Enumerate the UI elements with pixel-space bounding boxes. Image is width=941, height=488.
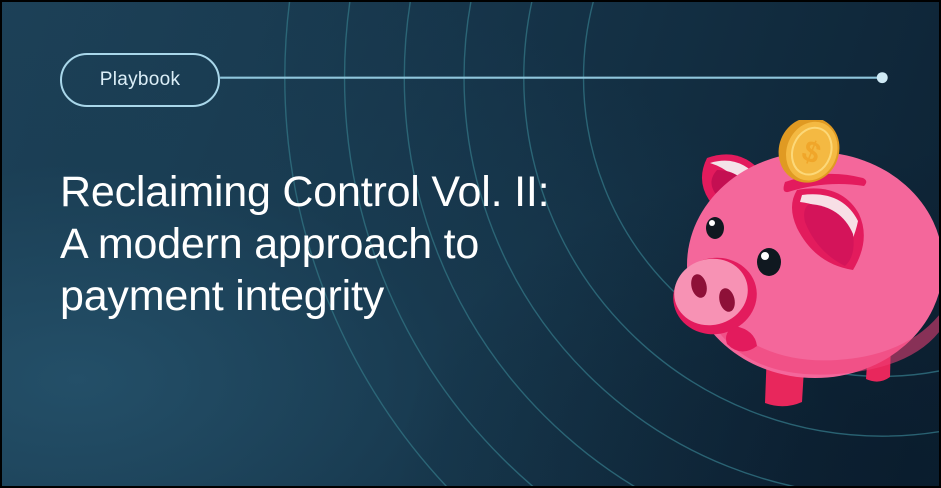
piggy-eye-right	[757, 248, 781, 276]
page-title: Reclaiming Control Vol. II: A modern app…	[60, 166, 660, 322]
piggy-bank-illustration: $	[657, 120, 941, 410]
page-title-line-2: A modern approach to	[60, 218, 660, 270]
connector-end-dot	[877, 72, 888, 83]
page-title-line-3: payment integrity	[60, 270, 660, 322]
page-title-line-1: Reclaiming Control Vol. II:	[60, 166, 660, 218]
piggy-eye-left-highlight	[709, 220, 715, 226]
piggy-eye-left	[706, 217, 724, 239]
hero-card: Playbook Reclaiming Control Vol. II: A m…	[0, 0, 941, 488]
playbook-badge[interactable]: Playbook	[60, 53, 220, 107]
piggy-eye-right-highlight	[761, 252, 769, 260]
playbook-badge-label: Playbook	[100, 69, 181, 91]
